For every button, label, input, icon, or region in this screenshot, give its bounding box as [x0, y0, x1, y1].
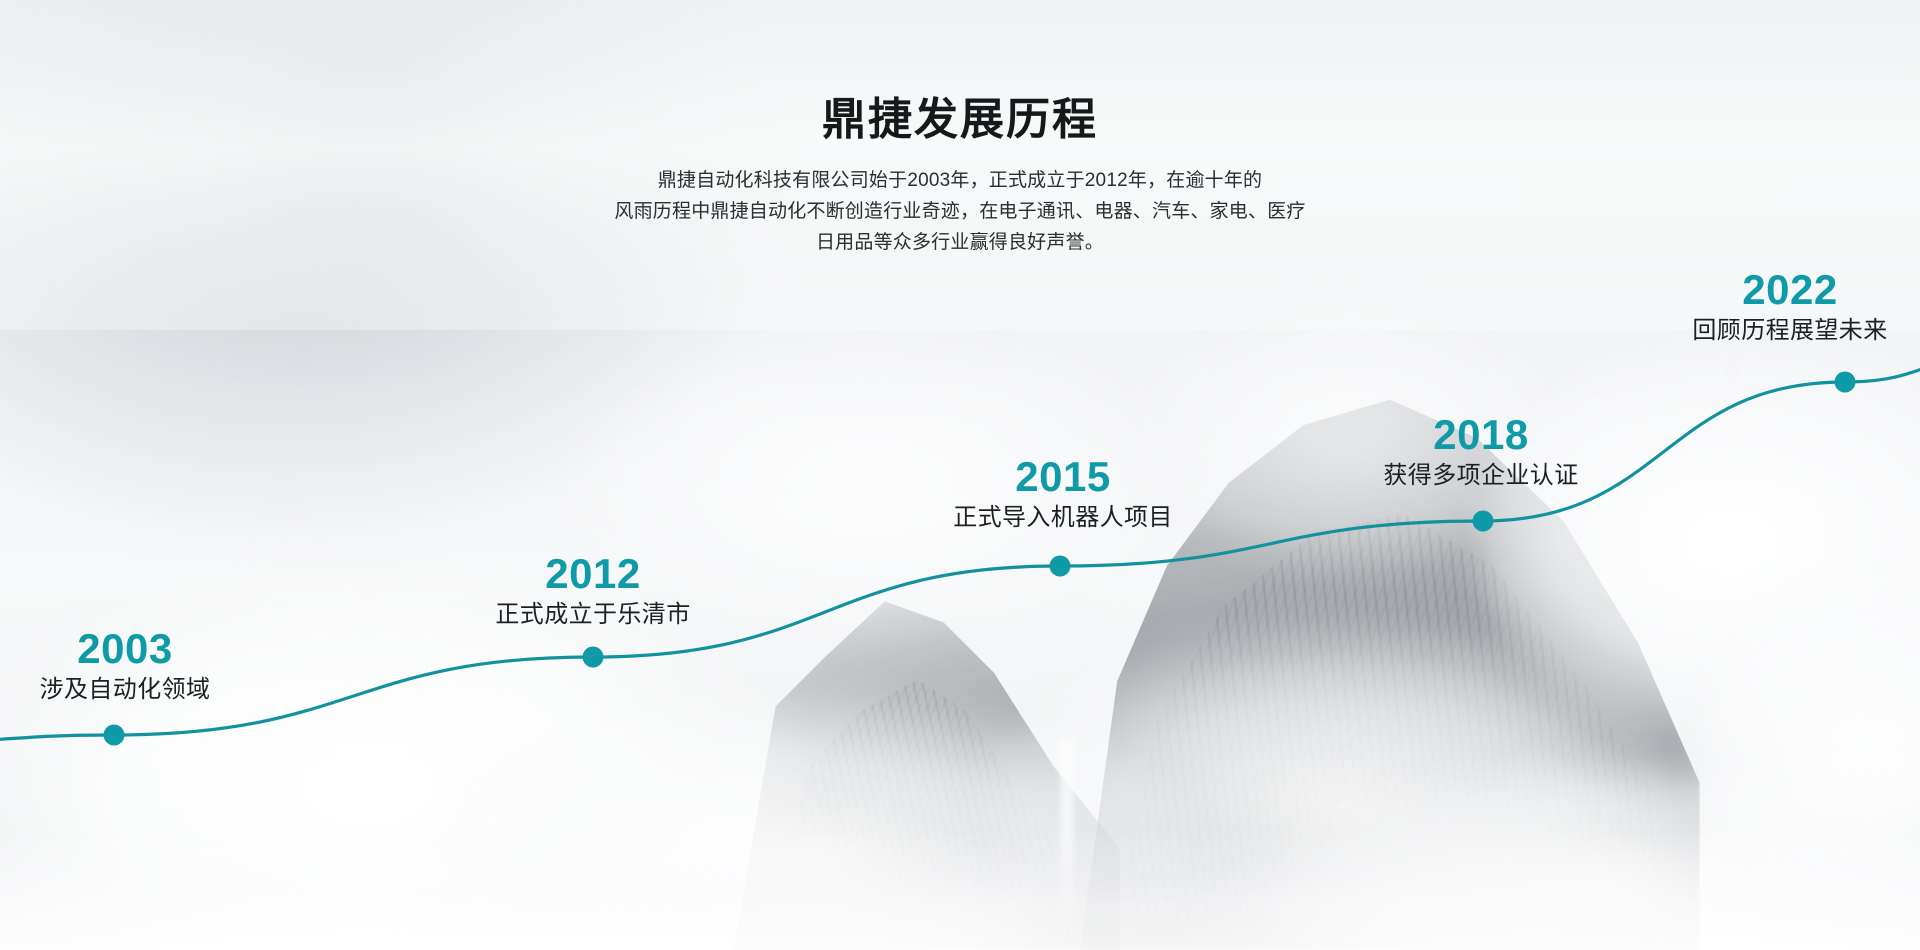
milestone-2018[interactable]: 2018 获得多项企业认证 [1383, 413, 1578, 491]
timeline-dot-2012[interactable] [583, 647, 604, 668]
header: 鼎捷发展历程 鼎捷自动化科技有限公司始于2003年，正式成立于2012年，在逾十… [0, 96, 1920, 259]
milestone-2015[interactable]: 2015 正式导入机器人项目 [953, 455, 1173, 533]
timeline-infographic: 鼎捷发展历程 鼎捷自动化科技有限公司始于2003年，正式成立于2012年，在逾十… [0, 0, 1920, 950]
milestone-year-2003: 2003 [40, 627, 211, 672]
milestone-year-2015: 2015 [953, 455, 1173, 500]
milestone-label-2018: 获得多项企业认证 [1383, 460, 1578, 491]
timeline-path [0, 352, 1920, 742]
milestone-label-2003: 涉及自动化领域 [40, 674, 211, 705]
timeline-dot-2003[interactable] [104, 725, 125, 746]
description-line-3: 日用品等众多行业赢得良好声誉。 [0, 228, 1920, 259]
milestone-2022[interactable]: 2022 回顾历程展望未来 [1692, 268, 1887, 346]
description-line-1: 鼎捷自动化科技有限公司始于2003年，正式成立于2012年，在逾十年的 [0, 166, 1920, 197]
timeline-dot-2015[interactable] [1050, 556, 1071, 577]
milestone-year-2018: 2018 [1383, 413, 1578, 458]
timeline-dot-2022[interactable] [1835, 372, 1856, 393]
milestone-2003[interactable]: 2003 涉及自动化领域 [40, 627, 211, 705]
description-line-2: 风雨历程中鼎捷自动化不断创造行业奇迹，在电子通讯、电器、汽车、家电、医疗 [0, 197, 1920, 228]
header-description: 鼎捷自动化科技有限公司始于2003年，正式成立于2012年，在逾十年的 风雨历程… [0, 166, 1920, 258]
timeline-dots [104, 372, 1856, 746]
milestone-label-2022: 回顾历程展望未来 [1692, 315, 1887, 346]
page-title: 鼎捷发展历程 [0, 96, 1920, 144]
milestone-label-2015: 正式导入机器人项目 [953, 502, 1173, 533]
milestone-2012[interactable]: 2012 正式成立于乐清市 [495, 552, 690, 630]
milestone-year-2012: 2012 [495, 552, 690, 597]
milestone-year-2022: 2022 [1692, 268, 1887, 313]
timeline-dot-2018[interactable] [1473, 511, 1494, 532]
milestone-label-2012: 正式成立于乐清市 [495, 599, 690, 630]
